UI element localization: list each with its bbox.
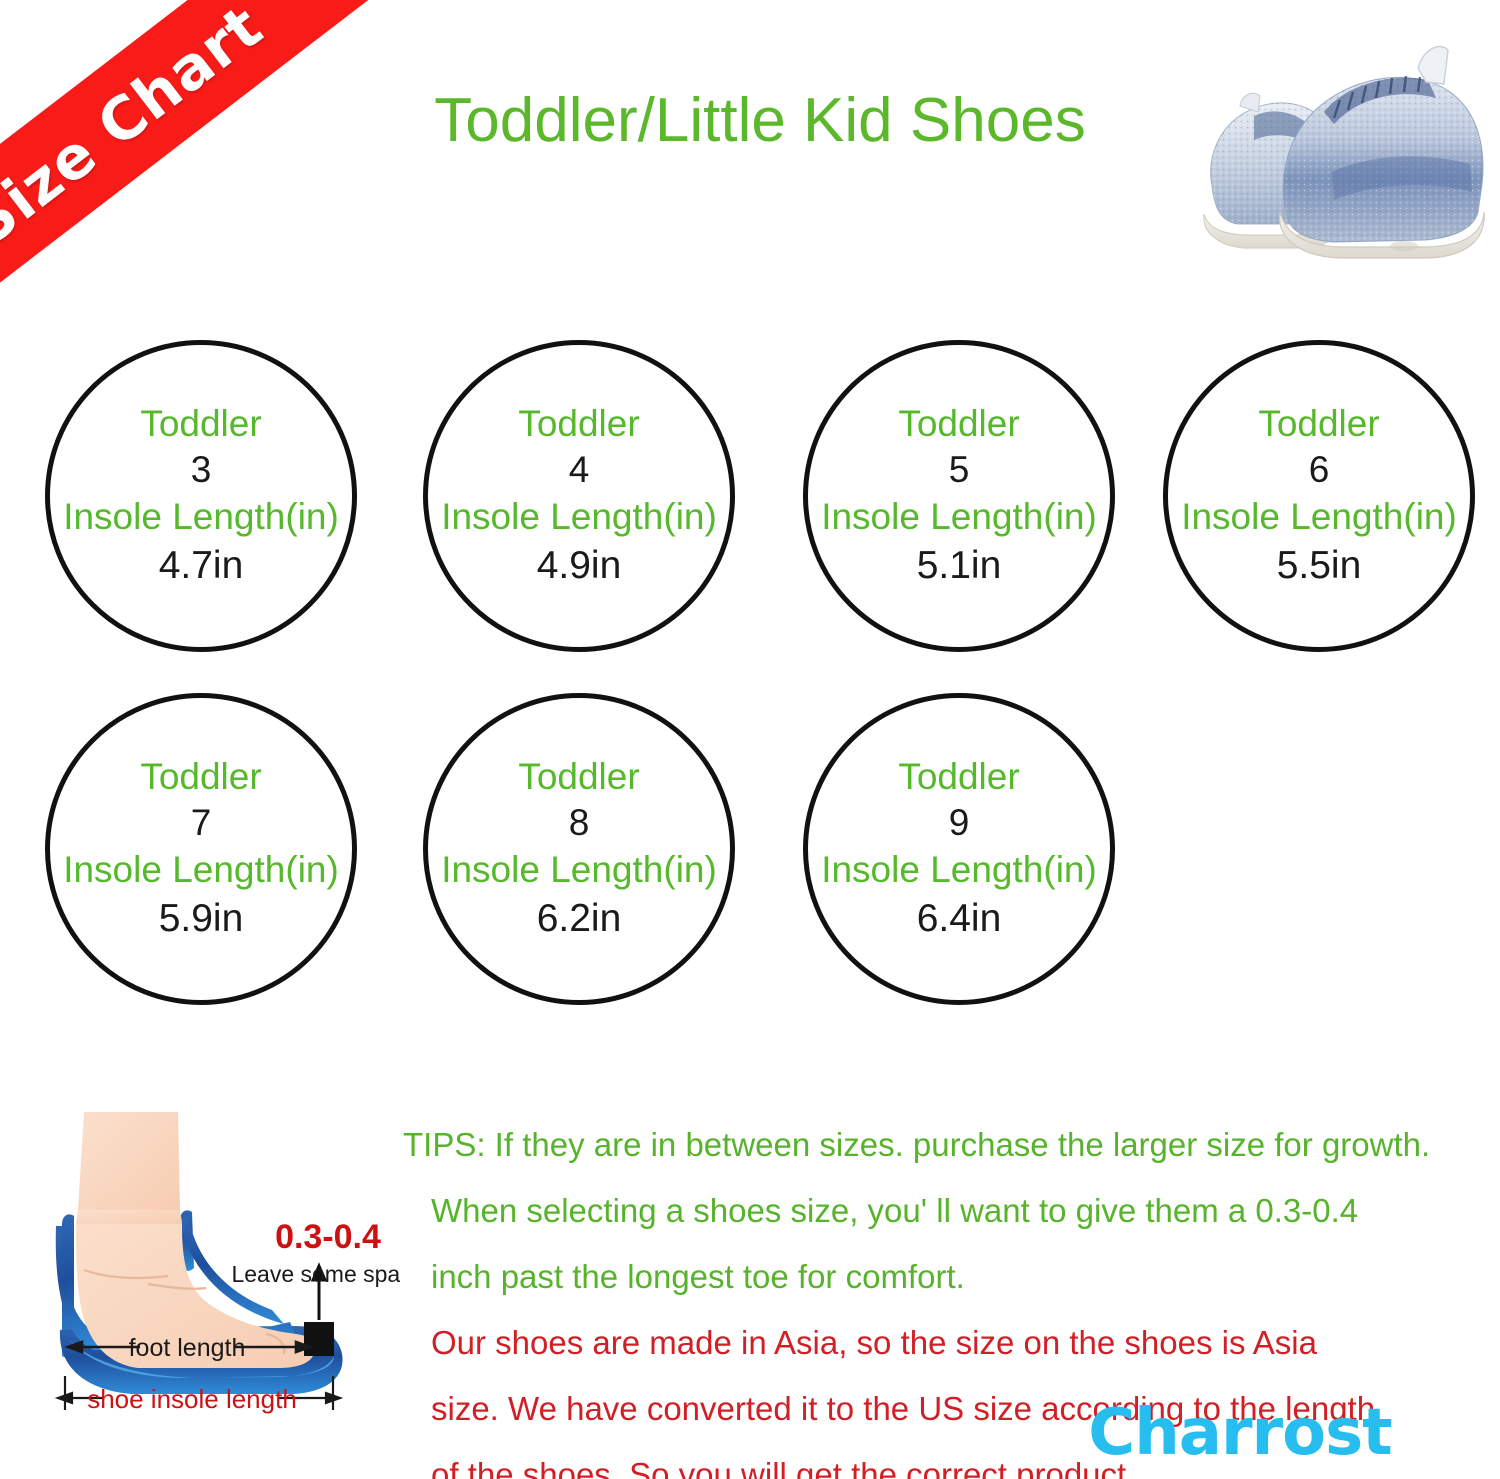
tip-line: inch past the longest toe for comfort.	[403, 1244, 1488, 1310]
size-circle-toddler-4: Toddler 4 Insole Length(in) 4.9in	[423, 340, 735, 652]
insole-length-value: 5.9in	[159, 894, 244, 944]
size-number: 4	[569, 447, 590, 493]
tip-line: Our shoes are made in Asia, so the size …	[403, 1310, 1488, 1376]
foot-measurement-diagram: 0.3-0.4 Leave some space foot length sho…	[28, 1098, 400, 1428]
size-type-label: Toddler	[1258, 401, 1379, 447]
measure-label: Insole Length(in)	[1181, 493, 1457, 541]
size-circle-toddler-7: Toddler 7 Insole Length(in) 5.9in	[45, 693, 357, 1005]
shoe-insole-length-label: shoe insole length	[87, 1384, 297, 1414]
size-circle-toddler-6: Toddler 6 Insole Length(in) 5.5in	[1163, 340, 1475, 652]
size-type-label: Toddler	[140, 754, 261, 800]
size-type-label: Toddler	[518, 401, 639, 447]
gap-caption-label: Leave some space	[231, 1261, 400, 1287]
size-number: 8	[569, 800, 590, 846]
insole-length-value: 5.5in	[1277, 541, 1362, 591]
toe-gap-block	[304, 1322, 334, 1356]
size-circle-toddler-8: Toddler 8 Insole Length(in) 6.2in	[423, 693, 735, 1005]
foot-length-label: foot length	[129, 1334, 246, 1362]
shoe-front	[1280, 47, 1485, 258]
insole-length-value: 5.1in	[917, 541, 1002, 591]
size-type-label: Toddler	[140, 401, 261, 447]
measure-label: Insole Length(in)	[821, 846, 1097, 894]
measure-label: Insole Length(in)	[63, 493, 339, 541]
tip-line: When selecting a shoes size, you' ll wan…	[403, 1178, 1488, 1244]
insole-length-value: 6.4in	[917, 894, 1002, 944]
measure-label: Insole Length(in)	[441, 493, 717, 541]
size-number: 3	[191, 447, 212, 493]
insole-length-value: 6.2in	[537, 894, 622, 944]
size-type-label: Toddler	[898, 401, 1019, 447]
insole-length-value: 4.7in	[159, 541, 244, 591]
size-number: 5	[949, 447, 970, 493]
insole-length-value: 4.9in	[537, 541, 622, 591]
tip-line: TIPS: If they are in between sizes. purc…	[403, 1112, 1488, 1178]
measure-label: Insole Length(in)	[441, 846, 717, 894]
measure-label: Insole Length(in)	[63, 846, 339, 894]
ribbon-label: Size Chart	[0, 0, 275, 259]
size-circle-toddler-5: Toddler 5 Insole Length(in) 5.1in	[803, 340, 1115, 652]
size-type-label: Toddler	[518, 754, 639, 800]
size-circle-toddler-3: Toddler 3 Insole Length(in) 4.7in	[45, 340, 357, 652]
brand-logo: Charrost	[1000, 1396, 1480, 1470]
measure-label: Insole Length(in)	[821, 493, 1097, 541]
size-chart-page: Size Chart Toddler/Little Kid Shoes	[0, 0, 1500, 1479]
size-number: 7	[191, 800, 212, 846]
product-photo-toddler-shoes	[1192, 6, 1492, 268]
page-title: Toddler/Little Kid Shoes	[300, 86, 1220, 156]
size-circle-toddler-9: Toddler 9 Insole Length(in) 6.4in	[803, 693, 1115, 1005]
size-number: 9	[949, 800, 970, 846]
size-type-label: Toddler	[898, 754, 1019, 800]
gap-value-label: 0.3-0.4	[275, 1218, 381, 1256]
size-number: 6	[1309, 447, 1330, 493]
